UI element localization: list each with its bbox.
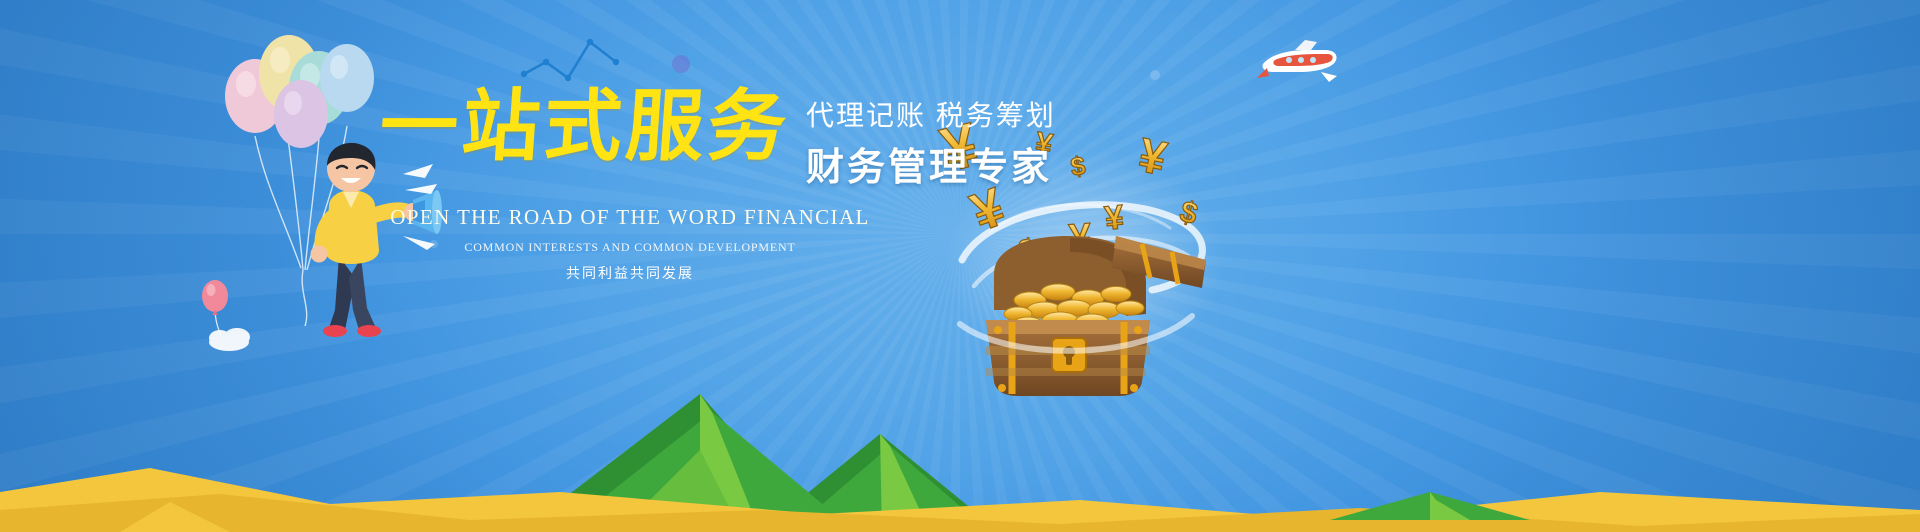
service-list-text: 代理记账 税务筹划	[806, 94, 1056, 134]
promo-banner: ¥ ¥ $ ¥ ¥ ¥ $ $ ¥	[0, 0, 1920, 532]
tagline-english-main: OPEN THE ROAD OF THE WORD FINANCIAL	[380, 205, 880, 230]
tagline-block: OPEN THE ROAD OF THE WORD FINANCIAL COMM…	[380, 205, 880, 283]
mountains-icon	[0, 342, 1920, 532]
page-title: 一站式服务	[377, 88, 792, 164]
decor-dot	[672, 55, 690, 73]
airplane-icon	[1255, 38, 1345, 86]
subtitle-text: 财务管理专家	[806, 136, 1056, 191]
tagline-english-sub: COMMON INTERESTS AND COMMON DEVELOPMENT	[380, 240, 880, 255]
tagline-chinese: 共同利益共同发展	[380, 263, 880, 283]
growth-chart-icon	[520, 32, 630, 87]
decor-dot	[1150, 70, 1160, 80]
